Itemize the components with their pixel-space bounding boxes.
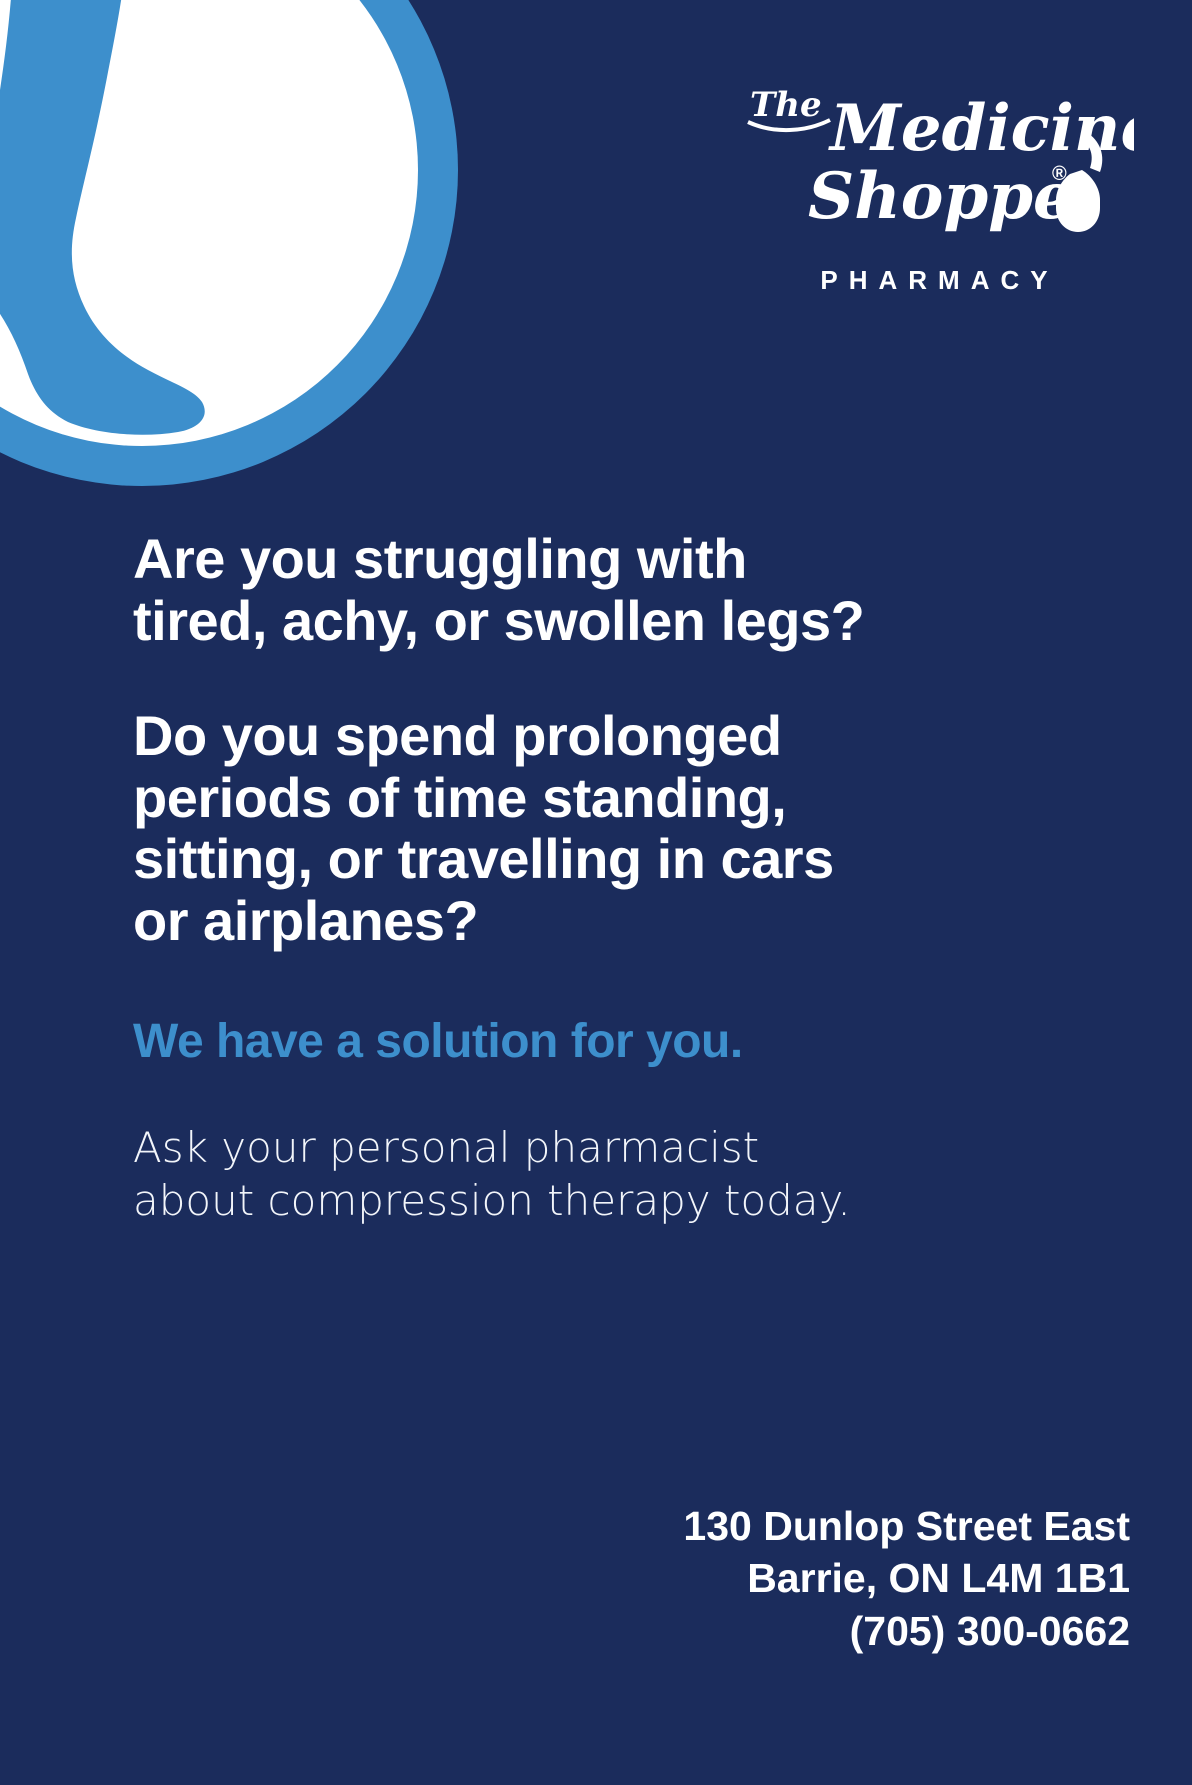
headline-2-line-2: periods of time standing,	[133, 766, 786, 829]
logo-the-text: The	[750, 85, 822, 125]
medicine-shoppe-wordmark: The Medicine Shoppe ®	[734, 72, 1134, 257]
headline-2-line-1: Do you spend prolonged	[133, 704, 782, 767]
copy-block: Are you struggling with tired, achy, or …	[133, 528, 1063, 1228]
hero-graphic-band: The Medicine Shoppe ® PHARMACY	[0, 0, 1192, 500]
address-city-province-postal: Barrie, ON L4M 1B1	[430, 1552, 1130, 1604]
headline-1-line-2: tired, achy, or swollen legs?	[133, 589, 864, 652]
logo-pharmacy-text: PHARMACY	[724, 265, 1144, 296]
tagline: We have a solution for you.	[133, 1014, 1063, 1069]
body-line-2: about compression therapy today.	[133, 1176, 851, 1225]
logo-shoppe-text: Shoppe	[808, 159, 1074, 234]
address-street: 130 Dunlop Street East	[430, 1500, 1130, 1552]
headline-secondary: Do you spend prolonged periods of time s…	[133, 705, 1063, 951]
address-phone[interactable]: (705) 300-0662	[430, 1605, 1130, 1657]
body-line-1: Ask your personal pharmacist	[133, 1123, 759, 1172]
headline-primary: Are you struggling with tired, achy, or …	[133, 528, 1063, 651]
logo-medicine-text: Medicine	[828, 91, 1134, 166]
leg-and-foot-circle-emblem	[0, 0, 462, 490]
medicine-shoppe-logo: The Medicine Shoppe ® PHARMACY	[724, 72, 1144, 296]
headline-2-line-4: or airplanes?	[133, 889, 478, 952]
headline-1-line-1: Are you struggling with	[133, 527, 747, 590]
address-block: 130 Dunlop Street East Barrie, ON L4M 1B…	[430, 1500, 1130, 1657]
headline-2-line-3: sitting, or travelling in cars	[133, 827, 834, 890]
body-copy: Ask your personal pharmacist about compr…	[133, 1121, 1063, 1229]
